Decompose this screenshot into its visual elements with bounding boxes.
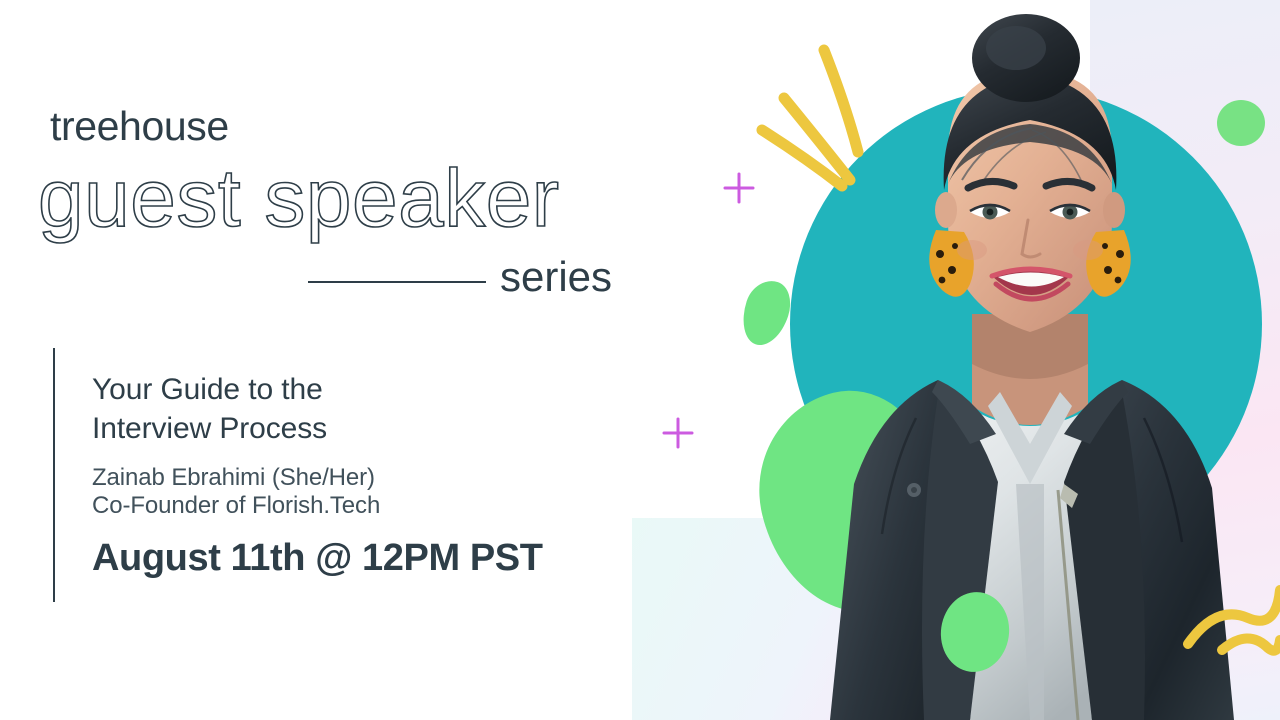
headline-outline: guest speaker [38, 158, 560, 240]
event-datetime: August 11th @ 12PM PST [92, 535, 543, 583]
speaker-portrait-illustration [820, 14, 1240, 720]
talk-title: Your Guide to the Interview Process [92, 370, 562, 448]
speaker-photo [820, 14, 1240, 720]
vertical-accent-rule [53, 348, 55, 602]
text-column: treehouse guest speaker series Your Guid… [0, 0, 660, 720]
series-divider-rule [308, 281, 486, 283]
speaker-role: Co-Founder of Florish.Tech [92, 490, 380, 522]
green-blob-pill-icon [735, 275, 797, 351]
plus-mark-lower [664, 419, 692, 447]
brand-wordmark: treehouse [50, 106, 229, 147]
promo-slide: treehouse guest speaker series Your Guid… [0, 0, 1280, 720]
plus-mark-upper [725, 174, 753, 202]
series-label: series [500, 256, 612, 298]
